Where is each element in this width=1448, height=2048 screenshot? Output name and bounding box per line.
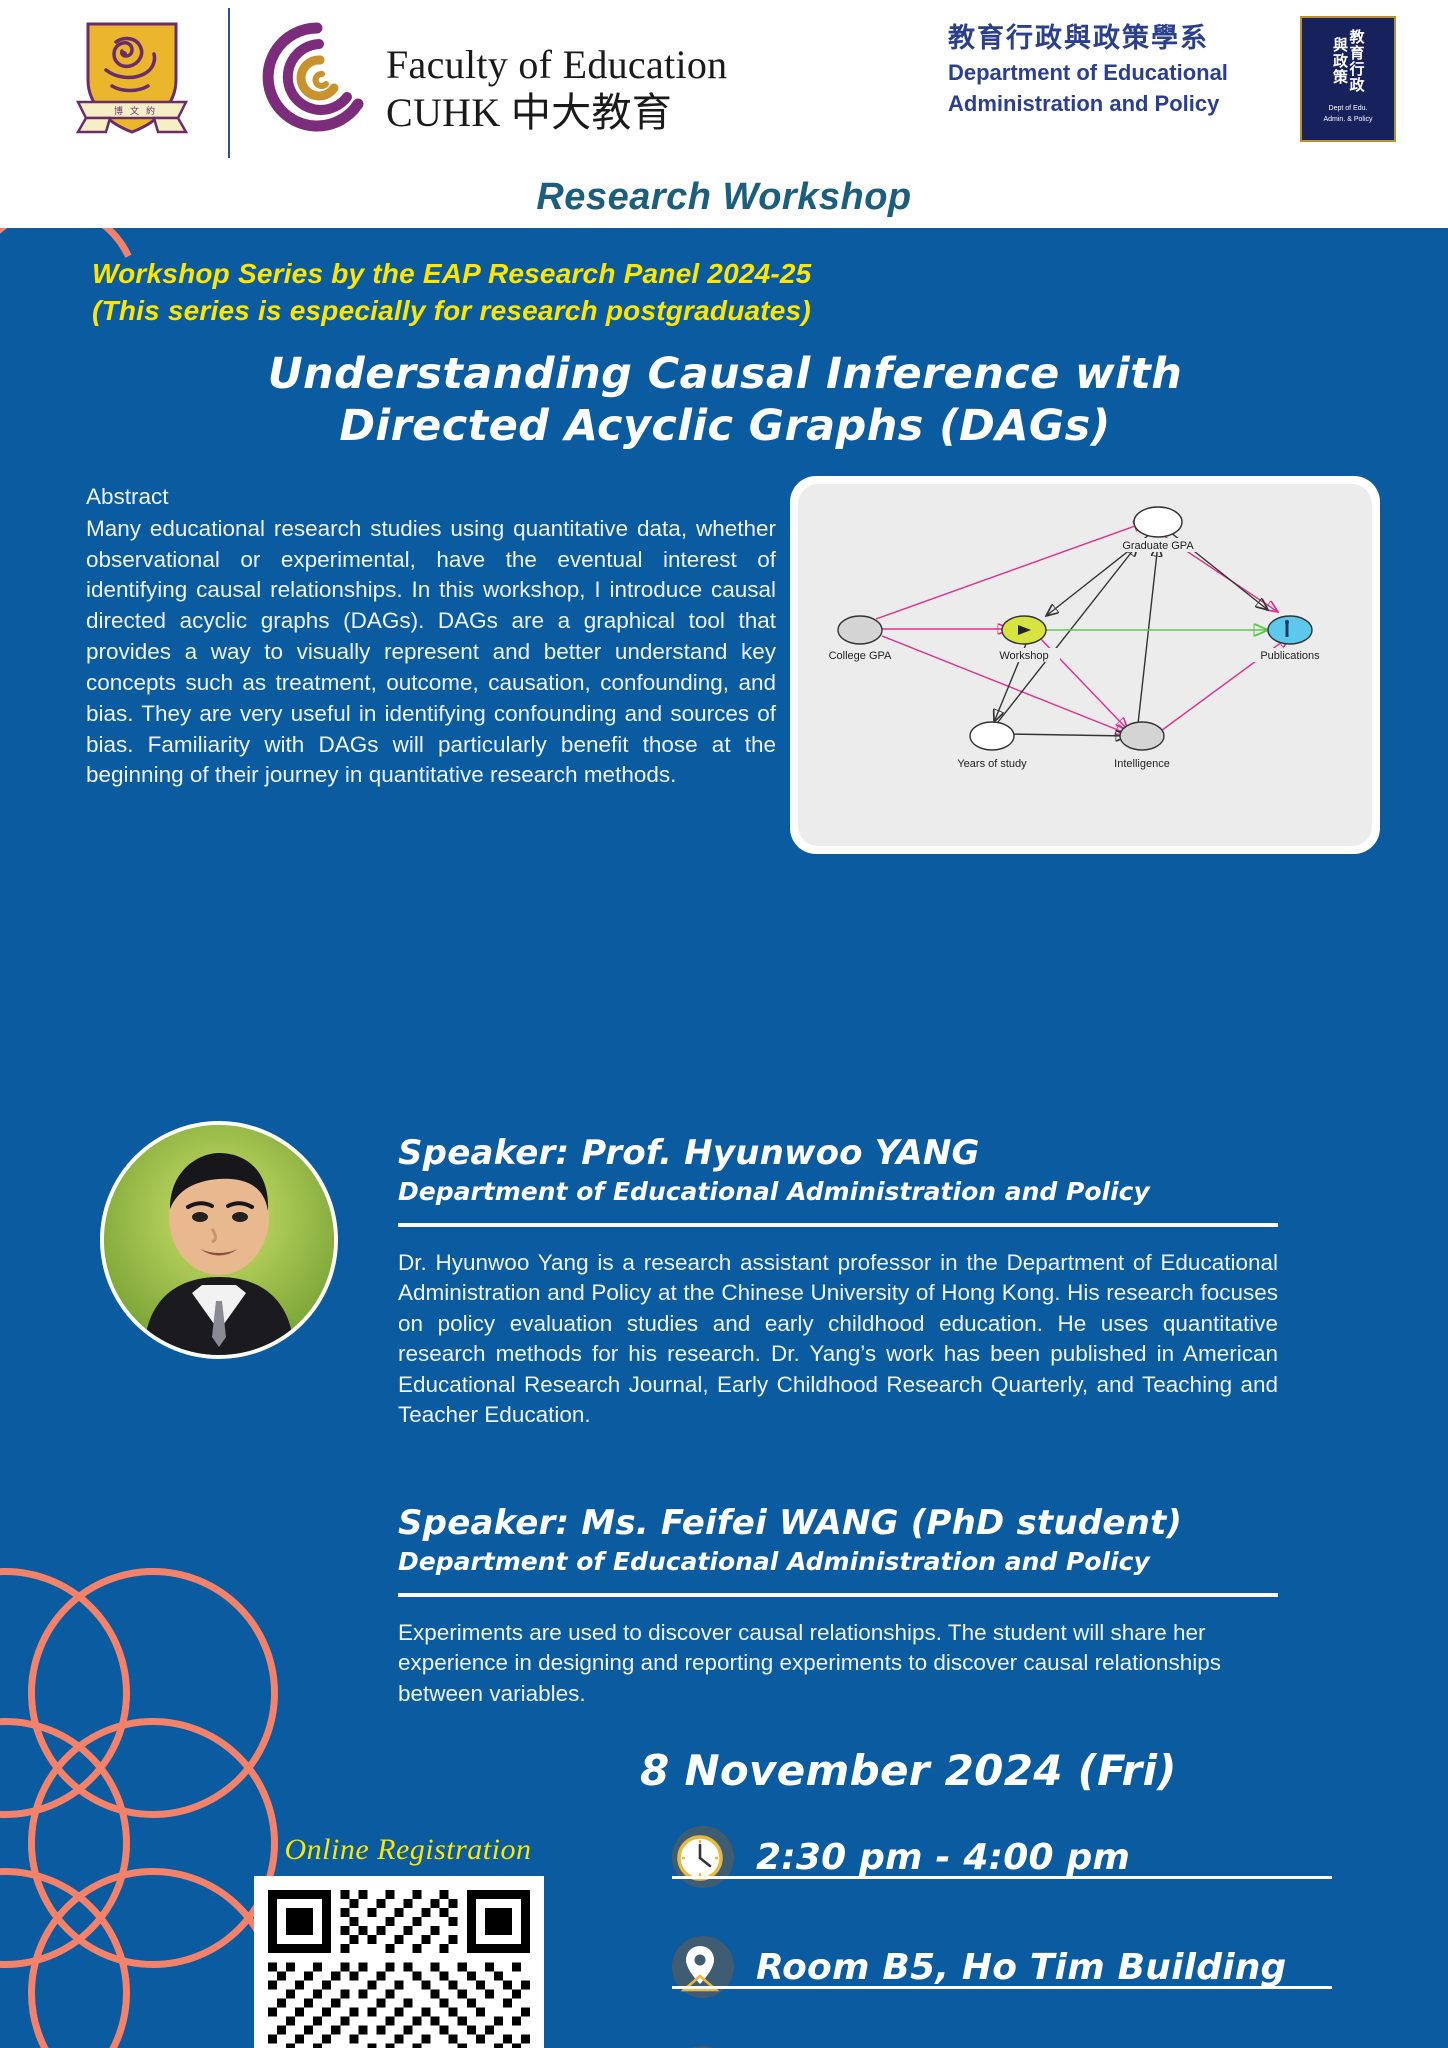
header-divider [228, 8, 230, 158]
dag-label-intelligence: Intelligence [1114, 758, 1170, 770]
speaker-2-name: Speaker: Ms. Feifei WANG (PhD student) [398, 1503, 1288, 1543]
dag-node-years-of-study [970, 722, 1014, 750]
department-name-en-line2: Administration and Policy [948, 90, 1288, 119]
series-line-2: (This series is especially for research … [92, 293, 1212, 330]
event-venue-divider [672, 1986, 1332, 1989]
title-line-2: Directed Acyclic Graphs (DAGs) [90, 400, 1360, 452]
title-line-1: Understanding Causal Inference with [90, 348, 1360, 400]
dag-figure: Graduate GPA College GPA Workshop Public… [798, 484, 1372, 846]
department-seal-en-line1: Dept of Edu. [1302, 105, 1394, 114]
svg-text:博: 博 [114, 105, 123, 116]
dag-label-publications: Publications [1260, 650, 1320, 662]
cuhk-crest-logo: 博文約 [72, 18, 192, 136]
event-venue: Room B5, Ho Tim Building [756, 1947, 1287, 1988]
dag-label-graduate-gpa: Graduate GPA [1122, 540, 1194, 552]
dag-label-years-of-study: Years of study [957, 758, 1027, 770]
department-seal-logo: 教育行政與政策 Dept of Edu. Admin. & Policy [1300, 16, 1396, 142]
dag-figure-card: Graduate GPA College GPA Workshop Public… [790, 476, 1380, 854]
svg-text:約: 約 [146, 105, 155, 116]
dag-node-graduate-gpa [1134, 507, 1182, 537]
faculty-of-education-logo [262, 22, 372, 132]
online-registration-label: Online Registration [228, 1833, 588, 1867]
department-name-zh: 教育行政與政策學系 [948, 22, 1288, 56]
poster-body: Workshop Series by the EAP Research Pane… [0, 228, 1448, 2048]
event-date: 8 November 2024 (Fri) [640, 1746, 1360, 1795]
dag-node-college-gpa [838, 616, 882, 644]
faculty-name-cuhk: CUHK 中大教育 [386, 90, 727, 136]
workshop-title: Understanding Causal Inference with Dire… [90, 348, 1360, 453]
department-seal-en-line2: Admin. & Policy [1302, 116, 1394, 125]
abstract-label: Abstract [86, 482, 776, 513]
dag-label-workshop: Workshop [999, 650, 1048, 662]
speaker-1-heading: Speaker: Prof. Hyunwoo YANG Department o… [398, 1133, 1288, 1206]
department-wordmark: 教育行政與政策學系 Department of Educational Admi… [948, 22, 1288, 119]
faculty-wordmark: Faculty of Education CUHK 中大教育 [386, 44, 727, 136]
speaker-1-department: Department of Educational Administration… [398, 1177, 1288, 1206]
dag-node-intelligence [1120, 722, 1164, 750]
poster-header: 博文約 Faculty of Education CUHK 中大教育 教育行政與… [0, 0, 1448, 228]
department-seal-zh: 教育行政與政策 [1332, 24, 1365, 98]
dag-graph-svg: Graduate GPA College GPA Workshop Public… [798, 484, 1372, 846]
dag-label-college-gpa: College GPA [829, 650, 892, 662]
workshop-series-subtitle: Workshop Series by the EAP Research Pane… [92, 256, 1212, 330]
speaker-2-department: Department of Educational Administration… [398, 1547, 1288, 1576]
speaker-1-divider [398, 1223, 1278, 1227]
speaker-1-name: Speaker: Prof. Hyunwoo YANG [398, 1133, 1288, 1173]
series-line-1: Workshop Series by the EAP Research Pane… [92, 256, 1212, 293]
registration-qr-code[interactable] [254, 1876, 544, 2048]
speaker-photo-avatar [100, 1121, 338, 1359]
event-time: 2:30 pm - 4:00 pm [756, 1837, 1130, 1878]
speaker-2-bio: Experiments are used to discover causal … [398, 1618, 1288, 1709]
qr-code-image [268, 1890, 530, 2048]
speaker-2-divider [398, 1593, 1278, 1597]
department-name-en-line1: Department of Educational [948, 59, 1288, 88]
dag-node-publications [1268, 616, 1312, 644]
faculty-name-en: Faculty of Education [386, 44, 727, 86]
abstract-block: Abstract Many educational research studi… [86, 482, 776, 791]
speaker-1-bio: Dr. Hyunwoo Yang is a research assistant… [398, 1248, 1278, 1430]
research-workshop-banner: Research Workshop [0, 176, 1448, 219]
speaker-2-heading: Speaker: Ms. Feifei WANG (PhD student) D… [398, 1503, 1288, 1576]
svg-text:文: 文 [130, 105, 139, 116]
poster-root: 博文約 Faculty of Education CUHK 中大教育 教育行政與… [0, 0, 1448, 2048]
abstract-text: Many educational research studies using … [86, 516, 776, 788]
event-time-divider [672, 1876, 1332, 1879]
